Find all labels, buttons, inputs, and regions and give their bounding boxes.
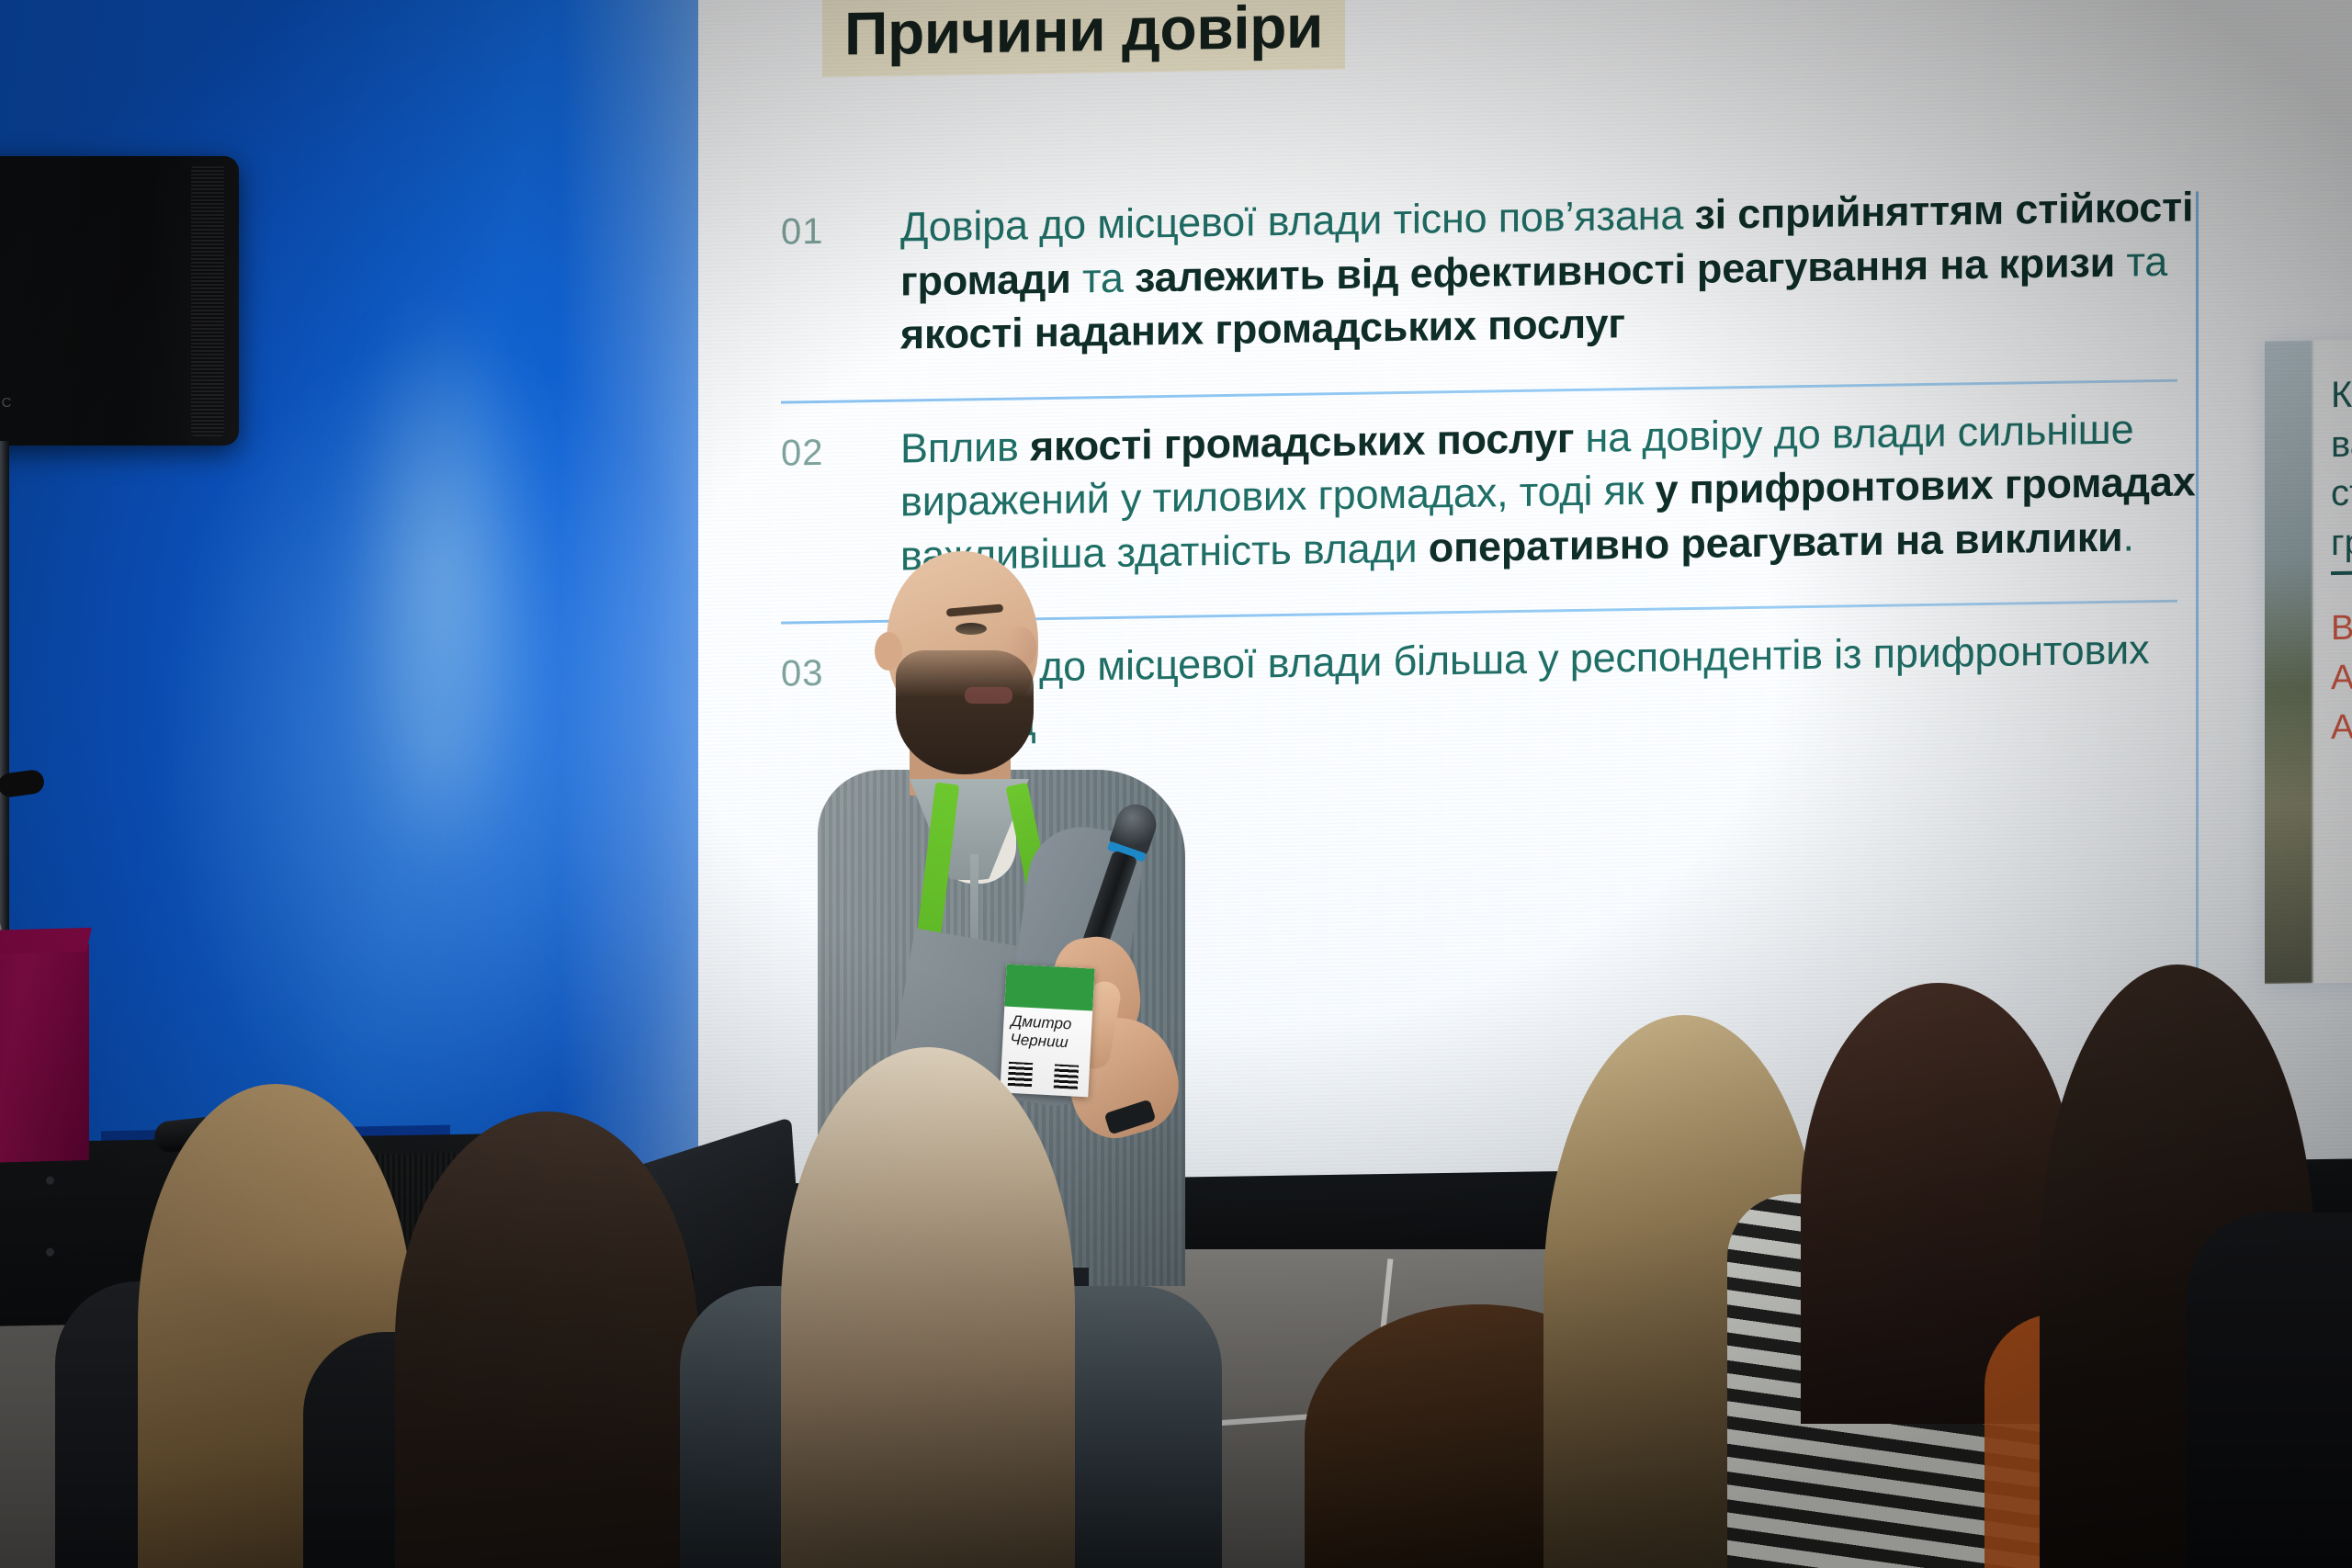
slide-item-number: 01 bbox=[753, 201, 900, 365]
side-card-divider bbox=[2331, 568, 2352, 575]
badge-name: Дмитро Черниш bbox=[1010, 1012, 1092, 1053]
slide-item: 01 Довіра до місцевої влади тісно пов’яз… bbox=[753, 180, 2223, 381]
side-card-credits: ВаАА bbox=[2331, 601, 2352, 753]
audience-head bbox=[395, 1111, 698, 1568]
backdrop-light-glow bbox=[303, 165, 579, 992]
presenter-beard bbox=[896, 650, 1034, 774]
audience-shoulders bbox=[2187, 1213, 2352, 1568]
gift-bag-top-flap bbox=[0, 928, 92, 955]
gift-bag: аю bbox=[0, 944, 89, 1164]
pa-speaker-brand-label: QSC bbox=[0, 395, 14, 411]
pa-speaker-stand-pole bbox=[0, 441, 9, 955]
slide-divider-rule bbox=[781, 378, 2177, 403]
audience-head bbox=[781, 1047, 1075, 1568]
pa-speaker-cabinet: QSC bbox=[0, 156, 239, 446]
pa-speaker-grille bbox=[191, 165, 224, 436]
side-card-text: Крвастгр bbox=[2331, 367, 2352, 568]
presenter-conference-badge: Дмитро Черниш bbox=[1000, 964, 1094, 1098]
presenter-mouth bbox=[965, 687, 1012, 704]
slide-side-card: Крвастгр ВаАА bbox=[2265, 336, 2352, 984]
photograph-scene: QSC Причини довіри 01 Довіра до місцевої… bbox=[0, 0, 2352, 1568]
side-card-photo bbox=[2265, 340, 2312, 984]
slide-item-text: Довіра до місцевої влади тісно пов’язана… bbox=[900, 180, 2223, 362]
slide-title: Причини довіри bbox=[822, 0, 1345, 77]
badge-header-band bbox=[1004, 964, 1094, 1011]
presenter-eye bbox=[955, 623, 987, 635]
